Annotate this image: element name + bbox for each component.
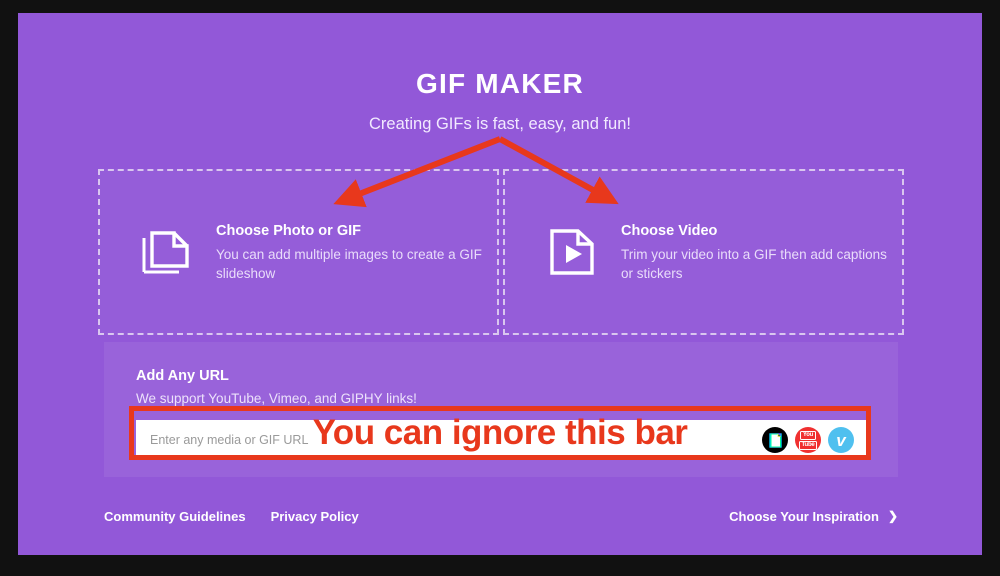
page-header: GIF MAKER Creating GIFs is fast, easy, a… xyxy=(18,13,982,134)
page-title: GIF MAKER xyxy=(18,68,982,100)
community-guidelines-link[interactable]: Community Guidelines xyxy=(104,509,246,524)
photos-stack-icon xyxy=(138,225,196,279)
choose-photo-text-block: Choose Photo or GIF You can add multiple… xyxy=(216,221,497,283)
card-title: Choose Photo or GIF xyxy=(216,223,497,239)
chevron-right-icon: ❯ xyxy=(888,509,898,523)
choose-inspiration-link[interactable]: Choose Your Inspiration ❯ xyxy=(729,509,898,524)
vimeo-label: v xyxy=(836,432,845,449)
footer-links-left: Community Guidelines Privacy Policy xyxy=(104,509,359,524)
add-url-panel: Add Any URL We support YouTube, Vimeo, a… xyxy=(104,342,898,477)
card-title: Choose Video xyxy=(621,223,902,239)
add-url-title: Add Any URL xyxy=(136,368,866,384)
vimeo-icon[interactable]: v xyxy=(828,427,854,453)
giphy-icon[interactable] xyxy=(762,427,788,453)
youtube-icon[interactable]: You Tube xyxy=(795,427,821,453)
youtube-label-bottom: Tube xyxy=(799,441,817,450)
page-footer: Community Guidelines Privacy Policy Choo… xyxy=(104,501,898,531)
gif-maker-screen: GIF MAKER Creating GIFs is fast, easy, a… xyxy=(18,13,982,555)
page-subtitle: Creating GIFs is fast, easy, and fun! xyxy=(18,115,982,134)
choose-inspiration-label: Choose Your Inspiration xyxy=(729,509,879,524)
video-file-play-icon xyxy=(543,225,601,279)
choose-video-card[interactable]: Choose Video Trim your video into a GIF … xyxy=(503,169,904,335)
youtube-label-top: You xyxy=(800,431,815,440)
choose-video-text-block: Choose Video Trim your video into a GIF … xyxy=(621,221,902,283)
provider-icons-group: You Tube v xyxy=(762,427,854,453)
add-url-subtitle: We support YouTube, Vimeo, and GIPHY lin… xyxy=(136,391,866,406)
privacy-policy-link[interactable]: Privacy Policy xyxy=(271,509,359,524)
card-description: You can add multiple images to create a … xyxy=(216,245,497,283)
choose-photo-or-gif-card[interactable]: Choose Photo or GIF You can add multiple… xyxy=(98,169,499,335)
card-description: Trim your video into a GIF then add capt… xyxy=(621,245,902,283)
url-input-wrapper: Enter any media or GIF URL You Tube v xyxy=(136,420,866,460)
url-input-placeholder: Enter any media or GIF URL xyxy=(150,433,308,447)
url-input[interactable]: Enter any media or GIF URL xyxy=(136,420,866,460)
source-options-row: Choose Photo or GIF You can add multiple… xyxy=(98,169,904,335)
